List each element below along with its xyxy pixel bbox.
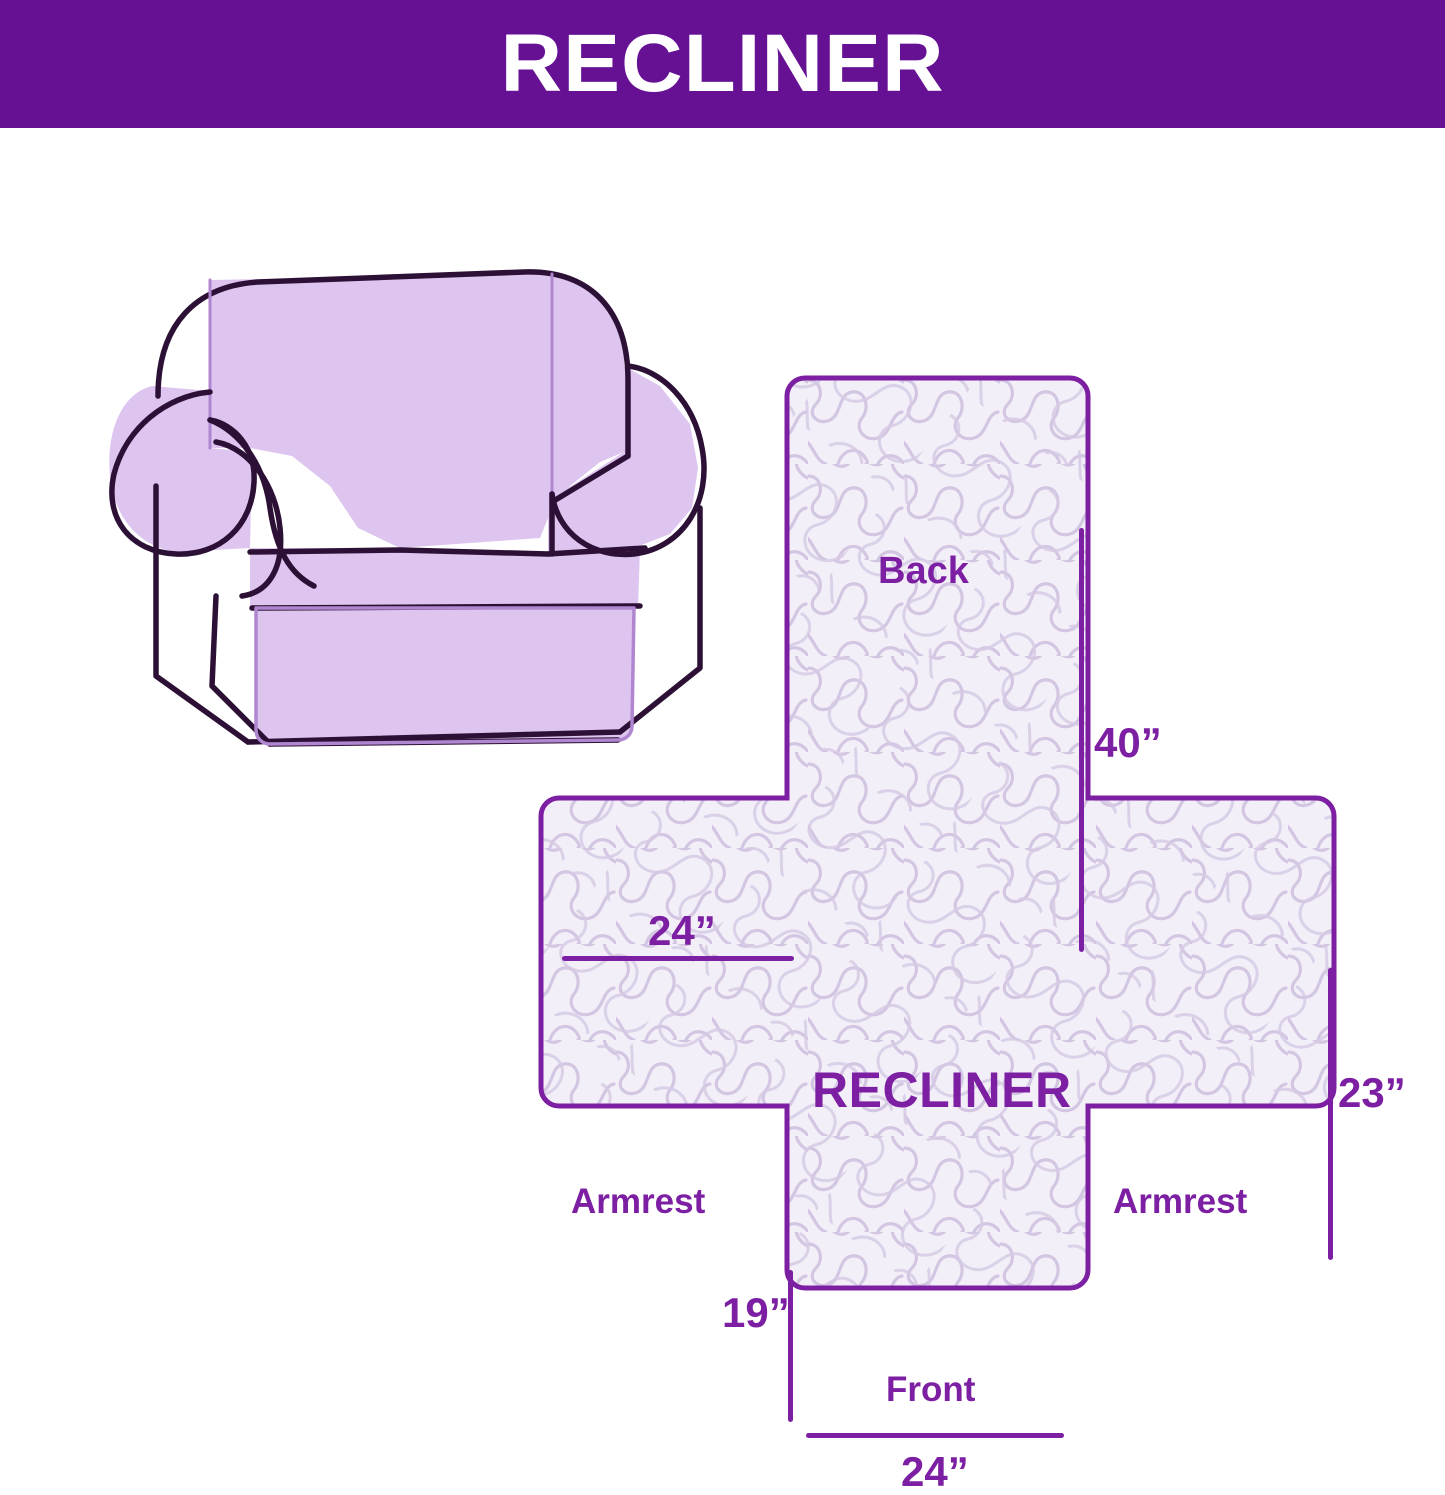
label-armrest-left: Armrest [571, 1184, 705, 1219]
diagram-stage: Back RECLINER Armrest Armrest Front 40” … [0, 128, 1445, 1445]
dimension-value-front-width: 24” [901, 1451, 969, 1493]
dimension-line-back-height [1079, 528, 1084, 952]
cover-layout-cross-diagram [520, 368, 1400, 1428]
header-banner: RECLINER [0, 0, 1445, 128]
label-recliner-center: RECLINER [812, 1065, 1072, 1115]
dimension-line-front-width [806, 1433, 1064, 1438]
dimension-value-armrest-width: 24” [648, 910, 716, 952]
label-armrest-right: Armrest [1113, 1184, 1247, 1219]
dimension-line-seat-depth [1328, 968, 1333, 1260]
label-back: Back [878, 552, 969, 590]
cross-shape [520, 368, 1400, 1428]
label-front: Front [886, 1372, 975, 1407]
dimension-line-armrest-width [562, 956, 794, 961]
cross-diagram-svg [520, 368, 1400, 1428]
page-title: RECLINER [500, 23, 944, 105]
dimension-value-front-height: 19” [722, 1292, 790, 1334]
dimension-value-back-height: 40” [1094, 722, 1162, 764]
dimension-value-seat-depth: 23” [1338, 1072, 1406, 1114]
